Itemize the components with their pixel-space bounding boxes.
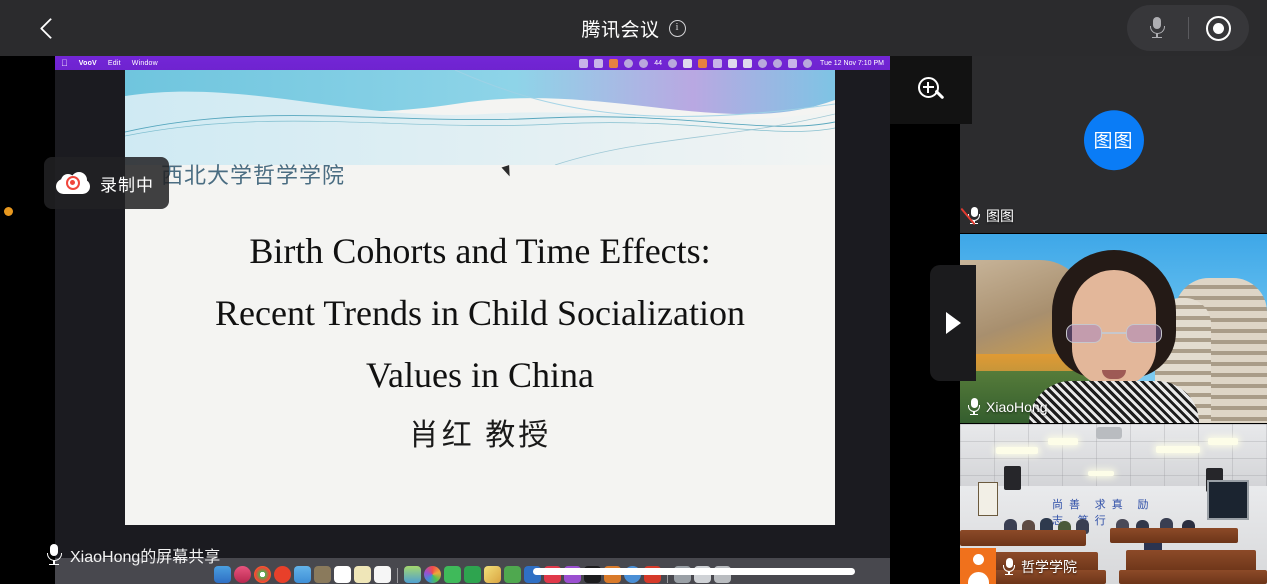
menu-bar-status-items: 44 Tue 12 Nov 7:10 PM [579,59,884,68]
dock-icon-messages[interactable] [444,566,461,583]
participant-rail: 图图 图图 [960,56,1267,584]
participant-footer: 哲学学院 [1004,557,1077,577]
home-indicator-bar[interactable] [533,568,855,575]
dock-icon-opera[interactable] [274,566,291,583]
shared-screen-stage[interactable]:  VooV Edit Window 44 [0,56,960,584]
slide-title: Birth Cohorts and Time Effects: Recent T… [125,220,835,406]
dock-icon-numbers[interactable] [504,566,521,583]
microphone-icon [1152,17,1163,39]
status-icon-disc[interactable] [624,59,633,68]
person-glasses [1066,324,1162,343]
ceiling-lamp [1208,438,1238,445]
menu-item-window[interactable]: Window [132,60,158,67]
status-icon-app[interactable] [609,59,618,68]
status-icon-binoculars[interactable] [683,59,692,68]
search-icon[interactable] [773,59,782,68]
status-icon-input-source[interactable] [728,59,737,68]
participant-name: 哲学学院 [1021,557,1077,577]
wall-calligraphy: 尚善 求真 励志 笃行 [1052,496,1162,510]
shared-desktop:  VooV Edit Window 44 [55,56,890,584]
dock-icon-facetime[interactable] [464,566,481,583]
avatar [960,548,996,584]
recording-indicator[interactable]: 录制中 [44,157,169,209]
status-icon-display[interactable] [713,59,722,68]
connection-status-dot [4,207,13,216]
avatar: 图图 [1084,110,1144,170]
dock-divider [397,568,398,583]
microphone-muted-icon [969,207,979,225]
status-icon-sync[interactable] [579,59,588,68]
slide-title-line-2: Recent Trends in Child Socialization [145,282,815,344]
screen-share-label: XiaoHong的屏幕共享 [48,543,220,567]
triangle-right-icon [946,312,961,334]
dock-icon-chrome[interactable] [254,566,271,583]
microphone-icon [969,398,979,416]
participant-tile-xiaohong[interactable]: XiaoHong [960,234,1267,423]
dock-icon-launchpad[interactable] [234,566,251,583]
person-clothing [1029,381,1199,423]
ceiling-lamp [1088,471,1114,476]
microphone-icon [48,544,60,566]
record-circle-icon [1206,16,1231,41]
mic-button[interactable] [1127,17,1188,39]
ceiling-lamp [1156,446,1200,453]
participant-tile-philosophy-school[interactable]: 尚善 求真 励志 笃行 [960,424,1267,584]
menu-item-voov[interactable]: VooV [79,60,97,67]
dock-icon-notes-folder[interactable] [314,566,331,583]
desk [960,530,1086,546]
apple-logo-icon[interactable]:  [61,59,68,68]
slide-wave-decoration [125,70,835,165]
participant-footer: 图图 [969,206,1014,226]
cloud-record-icon [56,172,90,194]
status-icon-wechat[interactable] [639,59,648,68]
mac-menu-bar:  VooV Edit Window 44 [55,56,890,70]
menu-item-edit[interactable]: Edit [108,60,121,67]
zoom-in-button[interactable] [890,56,972,124]
status-icon-siri[interactable] [803,59,812,68]
menu-bar-clock[interactable]: Tue 12 Nov 7:10 PM [820,60,884,67]
slide-organization: 西北大学哲学学院 [161,158,345,190]
participant-name: 图图 [986,206,1014,226]
top-right-controls [1127,5,1249,51]
wifi-icon[interactable] [758,59,767,68]
slide-title-line-1: Birth Cohorts and Time Effects: [145,220,815,282]
desk [1126,550,1256,572]
desk [1110,528,1238,543]
status-icon-control-center[interactable] [788,59,797,68]
status-icon-globe[interactable] [668,59,677,68]
dock-icon-mail[interactable] [294,566,311,583]
participant-name: XiaoHong [986,399,1048,415]
info-circle-icon[interactable] [669,20,686,37]
title-group: 腾讯会议 [0,0,1267,56]
recording-label: 录制中 [100,171,154,196]
record-button[interactable] [1189,16,1250,41]
desk [1119,570,1267,584]
status-icon-shield[interactable] [698,59,707,68]
status-icon-input[interactable] [594,59,603,68]
page-title: 腾讯会议 [581,15,659,42]
magnifier-plus-icon [918,77,945,104]
dock-icon-photos[interactable] [424,566,441,583]
screen-share-owner: XiaoHong的屏幕共享 [70,543,220,567]
microphone-icon [1004,558,1014,576]
presentation-slide: 西北大学哲学学院 Birth Cohorts and Time Effects:… [125,70,835,525]
menu-bar-left:  VooV Edit Window [61,59,158,68]
projector [1096,427,1122,439]
meeting-app-window: 腾讯会议  VooV Edit Window [0,0,1267,584]
status-icon-battery[interactable] [743,59,752,68]
dock-icon-maps[interactable] [404,566,421,583]
wall-speaker [1004,466,1021,490]
dock-icon-calendar[interactable] [334,566,351,583]
dock-icon-reminders[interactable] [374,566,391,583]
ceiling-lamp [996,447,1038,454]
panel-expand-tab[interactable] [930,265,976,381]
wall-artwork [978,482,998,516]
participant-tile-tutu[interactable]: 图图 图图 [960,56,1267,233]
ceiling-lamp [1048,438,1078,445]
app-top-bar: 腾讯会议 [0,0,1267,56]
dock-icon-notes[interactable] [484,566,501,583]
slide-title-line-3: Values in China [145,344,815,406]
status-badge-count: 44 [654,60,662,67]
dock-icon-stickies[interactable] [354,566,371,583]
slide-author: 肖红 教授 [125,410,835,454]
participant-footer: XiaoHong [969,398,1048,416]
dock-icon-finder[interactable] [214,566,231,583]
